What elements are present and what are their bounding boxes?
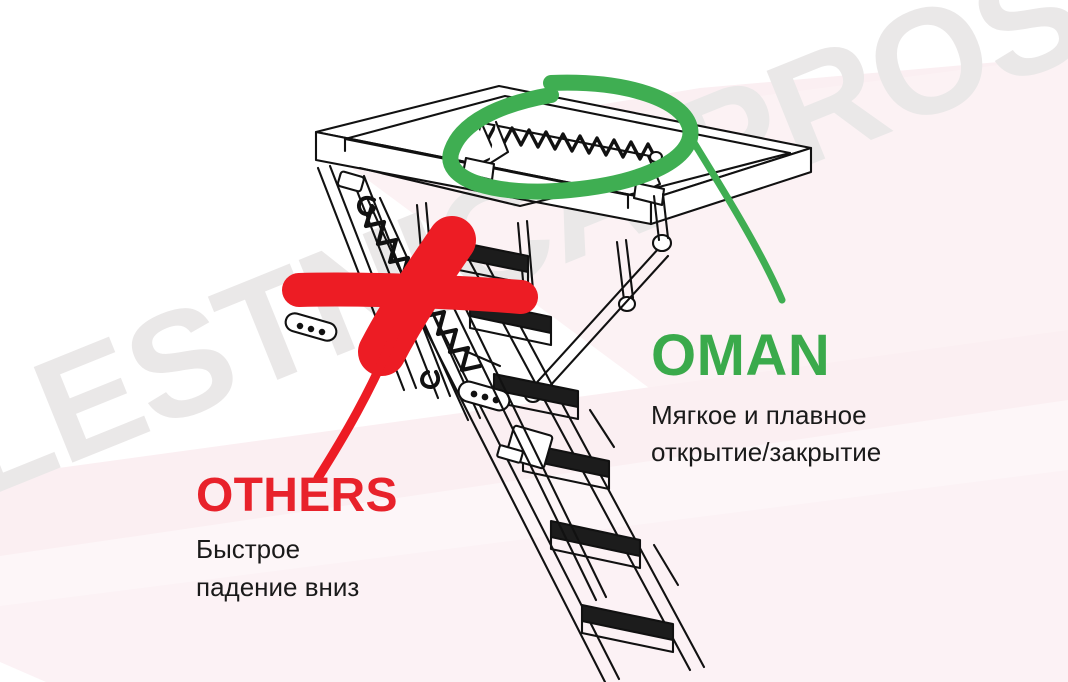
oman-title: OMAN — [651, 327, 1011, 385]
oman-subtitle-line1: Мягкое и плавное — [651, 397, 1011, 434]
others-subtitle: Быстрое падение вниз — [196, 531, 536, 606]
comparison-infographic: LESTNICA-PROSTO.RU — [0, 0, 1068, 682]
oman-subtitle-line2: открытие/закрытие — [651, 434, 1011, 471]
others-callout: OTHERS Быстрое падение вниз — [196, 472, 536, 606]
green-ellipse-loop — [450, 83, 690, 192]
oman-subtitle: Мягкое и плавное открытие/закрытие — [651, 397, 1011, 471]
oman-callout: OMAN Мягкое и плавное открытие/закрытие — [651, 327, 1011, 471]
green-tail-line — [688, 133, 782, 300]
others-title: OTHERS — [196, 472, 536, 520]
others-subtitle-line2: падение вниз — [196, 569, 536, 607]
others-subtitle-line1: Быстрое — [196, 531, 536, 569]
